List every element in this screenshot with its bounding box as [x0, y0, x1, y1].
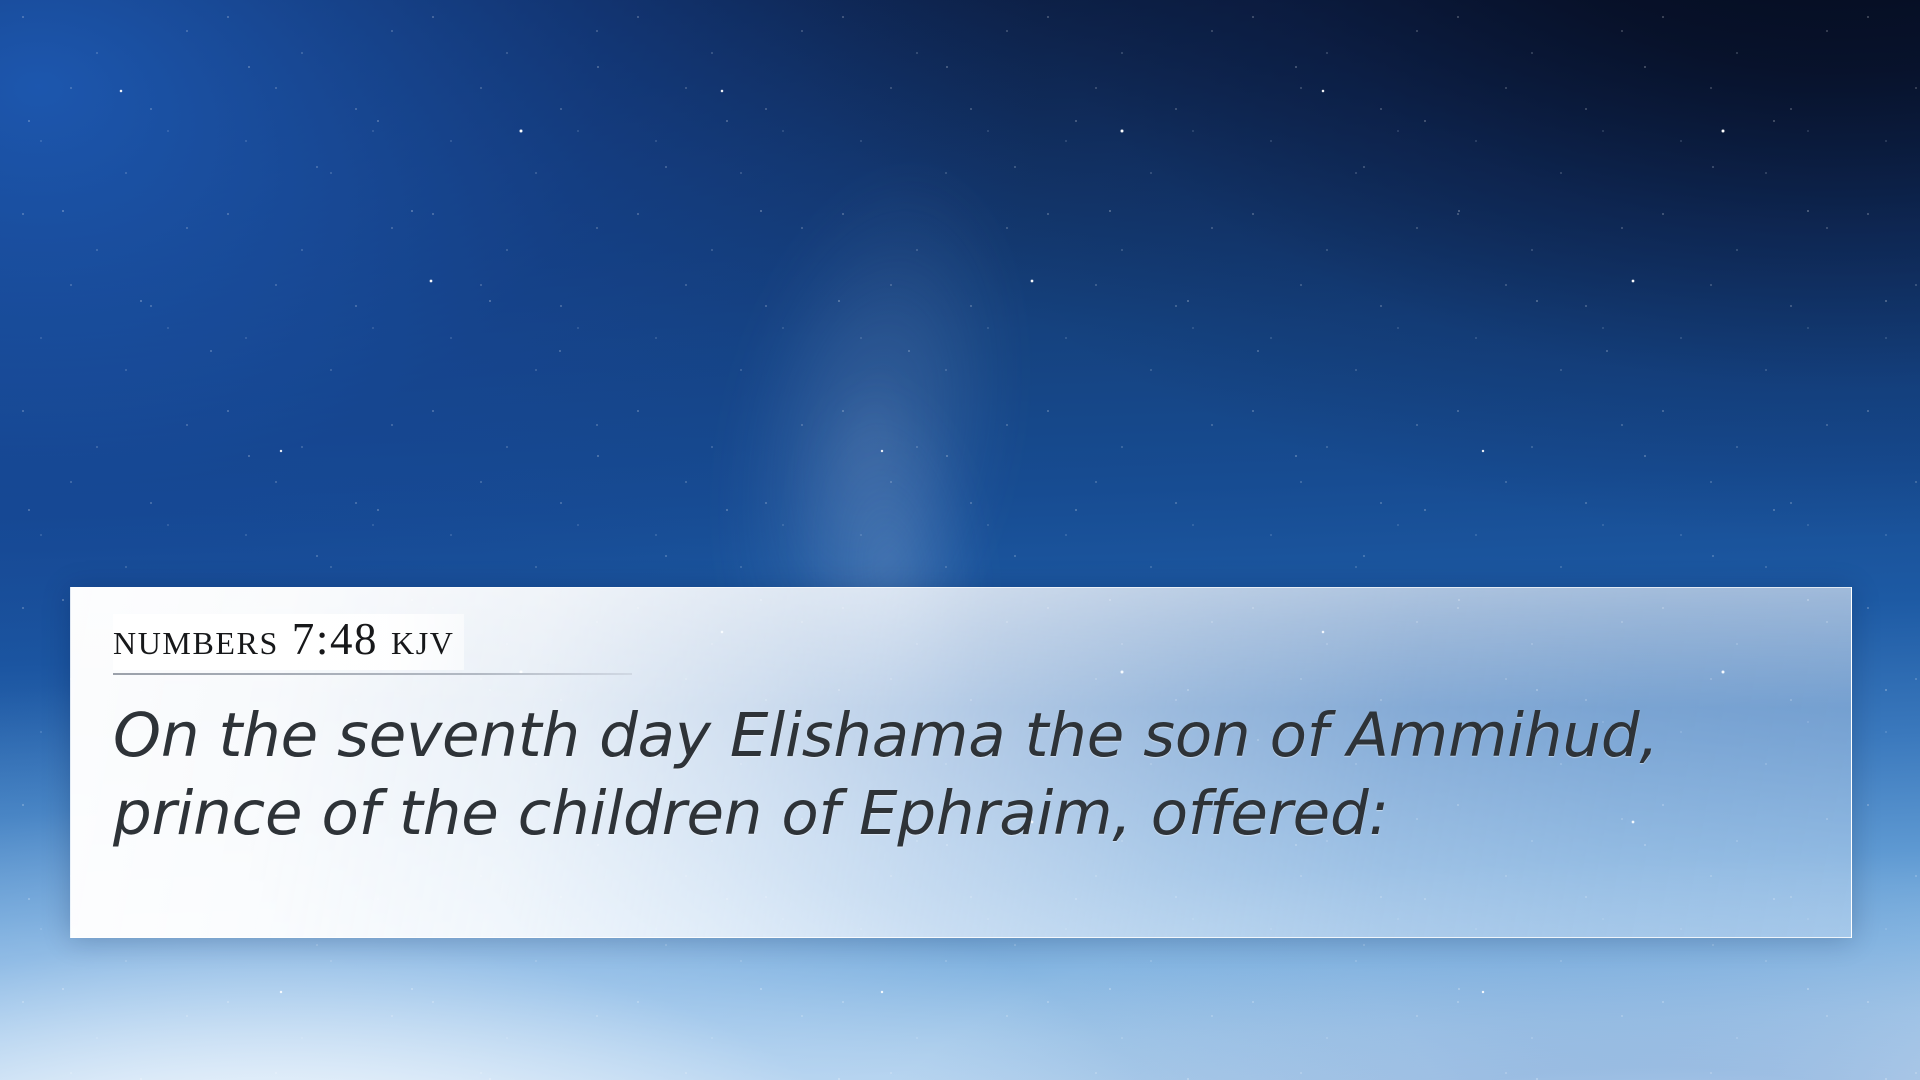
- verse-card-content: Numbers 7:48 KJV On the seventh day Elis…: [71, 588, 1851, 854]
- verse-card: Numbers 7:48 KJV On the seventh day Elis…: [70, 587, 1852, 938]
- verse-reference: Numbers 7:48 KJV: [113, 616, 454, 664]
- verse-reference-block: Numbers 7:48 KJV: [113, 614, 464, 670]
- verse-image-scene: Numbers 7:48 KJV On the seventh day Elis…: [0, 0, 1920, 1080]
- verse-text: On the seventh day Elishama the son of A…: [113, 697, 1813, 854]
- verse-reference-underline: [113, 673, 632, 675]
